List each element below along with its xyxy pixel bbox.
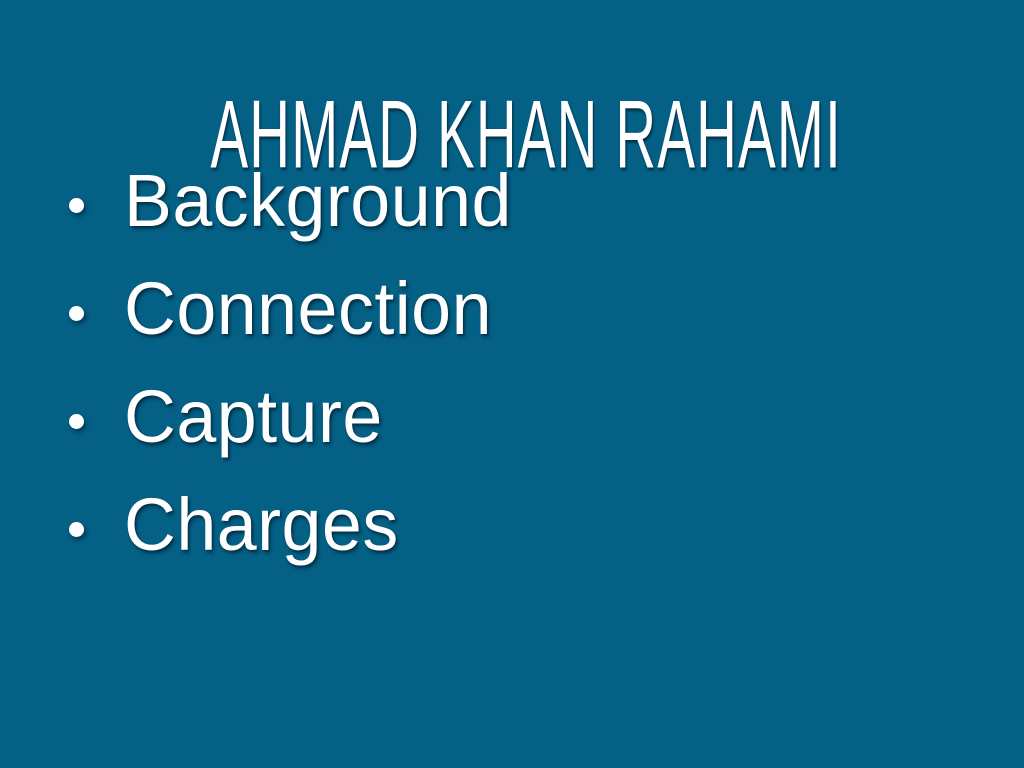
list-item: Charges	[0, 484, 1024, 592]
list-item: Connection	[0, 268, 1024, 376]
bullet-item-label: Connection	[124, 268, 492, 350]
list-item: Background	[0, 160, 1024, 268]
bullet-dot-icon	[69, 306, 84, 321]
presentation-slide: AHMAD KHAN RAHAMI Background Connection …	[0, 0, 1024, 768]
bullet-item-label: Capture	[124, 376, 383, 458]
bullet-list: Background Connection Capture Charges	[0, 160, 1024, 592]
bullet-dot-icon	[69, 522, 84, 537]
bullet-dot-icon	[69, 198, 84, 213]
bullet-dot-icon	[69, 414, 84, 429]
bullet-item-label: Charges	[124, 484, 399, 566]
list-item: Capture	[0, 376, 1024, 484]
bullet-item-label: Background	[124, 160, 512, 242]
